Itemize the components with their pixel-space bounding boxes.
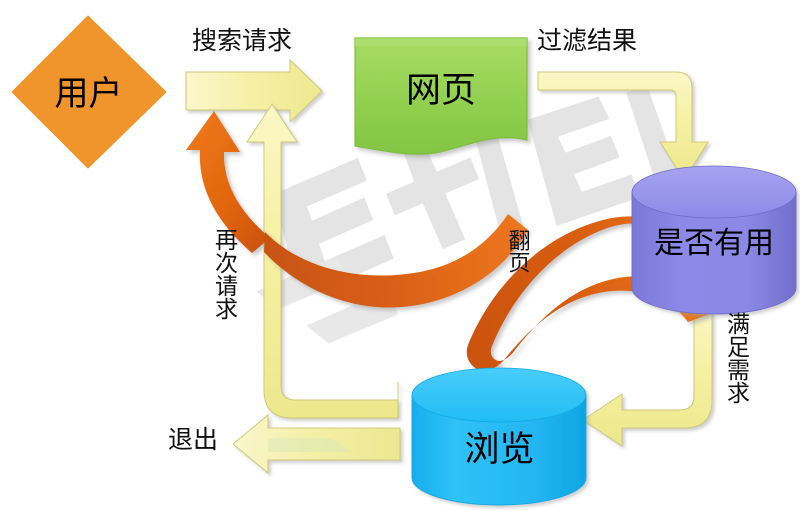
arrow-search-request [186, 60, 322, 122]
node-user-label: 用户 [36, 66, 141, 115]
edge-label-satisfy-need: 满足需求 [724, 312, 747, 404]
arrow-satisfy-need [583, 305, 712, 446]
edge-label-exit: 退出 [168, 428, 218, 453]
edge-label-page-turn: 翻页 [506, 229, 528, 273]
diagram-canvas: 用户 网页 是否有用 浏览 搜索请求 过滤结果 再次请求 翻页 满足需求 退出 [0, 0, 800, 510]
arrow-exit [233, 415, 400, 473]
node-browse-label: 浏览 [432, 421, 567, 472]
edge-label-request-again: 再次请求 [212, 228, 235, 320]
edge-label-search-request: 搜索请求 [192, 29, 292, 54]
edge-label-filter-results: 过滤结果 [537, 29, 637, 54]
node-webpage-label: 网页 [381, 62, 501, 113]
node-useful-label: 是否有用 [634, 218, 794, 262]
